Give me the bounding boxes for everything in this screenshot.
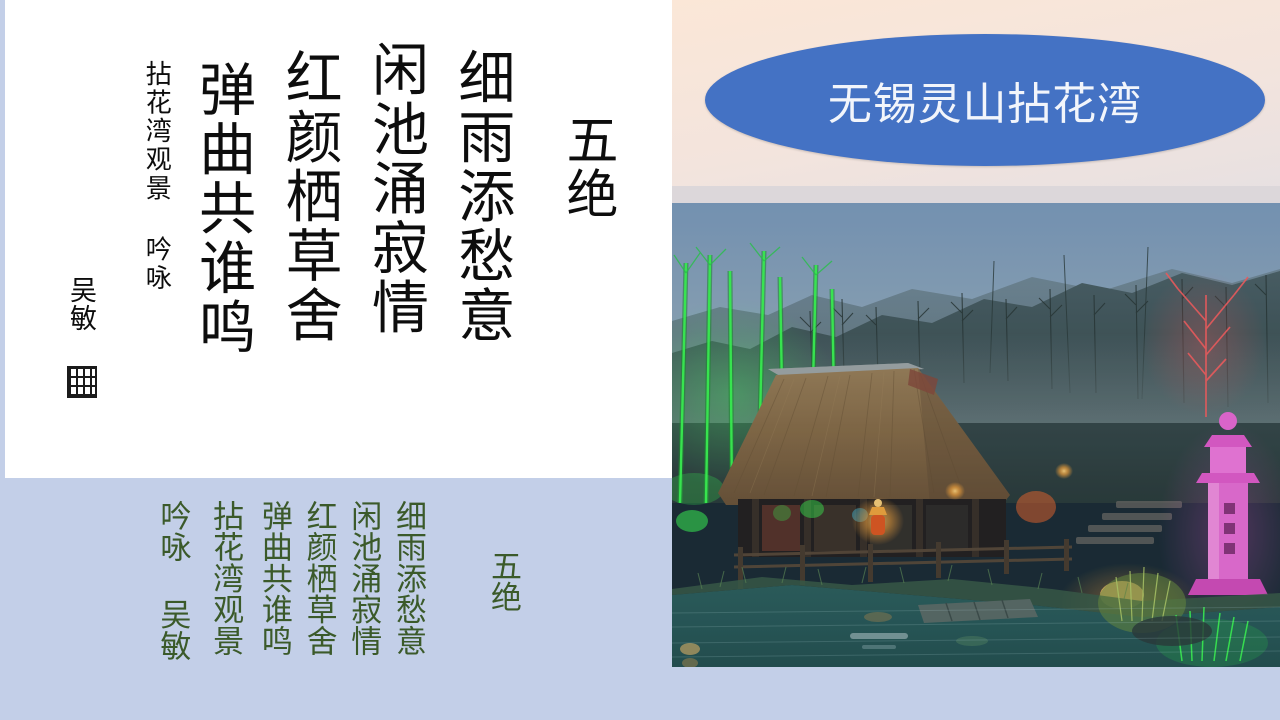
poem-signature: 吟咏 吴敏: [146, 500, 199, 662]
calligraphy-columns: 拈花湾观景 吟咏 弹曲共谁鸣 红颜栖草舍 闲池涌寂情 细雨添愁意 五绝: [126, 18, 644, 448]
calligraphy-paper: 拈花湾观景 吟咏 弹曲共谁鸣 红颜栖草舍 闲池涌寂情 细雨添愁意 五绝 吴敏: [5, 0, 672, 478]
calligraphy-line-2: 闲池涌寂情: [352, 40, 438, 336]
poem-text-block: 五绝 吟咏 吴敏 拈花湾观景 弹曲共谁鸣 红颜栖草舍 闲池涌寂情 细雨添愁意: [0, 478, 672, 720]
calligraphy-author: 吴敏: [61, 276, 100, 333]
calligraphy-image[interactable]: 拈花湾观景 吟咏 弹曲共谁鸣 红颜栖草舍 闲池涌寂情 细雨添愁意 五绝 吴敏: [5, 0, 672, 478]
calligraphy-line-3: 红颜栖草舍: [266, 48, 352, 344]
poem-line-1: 细雨添愁意: [385, 500, 430, 657]
poem-line-2: 闲池涌寂情: [341, 500, 386, 657]
calligraphy-inscription: 拈花湾观景 吟咏: [126, 60, 180, 293]
scenery-photo[interactable]: [672, 203, 1280, 667]
calligraphy-line-4: 弹曲共谁鸣: [179, 60, 265, 356]
title-panel: 无锡灵山拈花湾: [672, 0, 1280, 203]
slide-canvas: 拈花湾观景 吟咏 弹曲共谁鸣 红颜栖草舍 闲池涌寂情 细雨添愁意 五绝 吴敏 无…: [0, 0, 1280, 720]
poem-title: 五绝: [485, 550, 520, 613]
title-ellipse-shape[interactable]: 无锡灵山拈花湾: [705, 34, 1265, 166]
seal-stamp-icon: [67, 366, 97, 398]
poem-line-4: 弹曲共谁鸣: [251, 500, 296, 657]
calligraphy-title: 五绝: [525, 113, 644, 221]
page-title: 无锡灵山拈花湾: [828, 68, 1142, 132]
calligraphy-line-1: 细雨添愁意: [438, 48, 524, 344]
poem-line-3: 红颜栖草舍: [296, 500, 341, 657]
poem-inscription: 拈花湾观景: [198, 500, 251, 657]
poem-columns: 吟咏 吴敏 拈花湾观景 弹曲共谁鸣 红颜栖草舍 闲池涌寂情 细雨添愁意: [146, 500, 430, 662]
